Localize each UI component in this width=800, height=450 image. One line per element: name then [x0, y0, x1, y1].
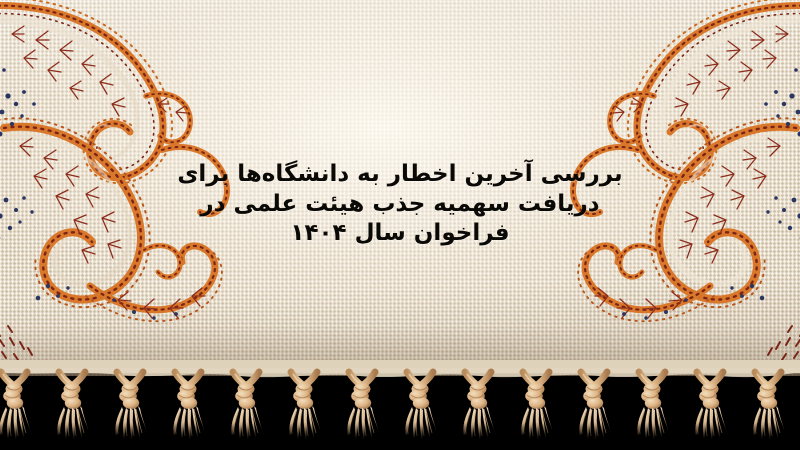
headline-line-2: دریافت سهمیه جذب هیئت علمی در [0, 190, 800, 220]
headline-text: بررسی آخرین اخطار به دانشگاه‌ها برای دری… [0, 160, 800, 249]
banner-image: بررسی آخرین اخطار به دانشگاه‌ها برای دری… [0, 0, 800, 450]
headline-line-3: فراخوان سال ۱۴۰۴ [0, 219, 800, 249]
knotted-tassel-fringe [0, 360, 800, 450]
headline-line-1: بررسی آخرین اخطار به دانشگاه‌ها برای [0, 160, 800, 190]
